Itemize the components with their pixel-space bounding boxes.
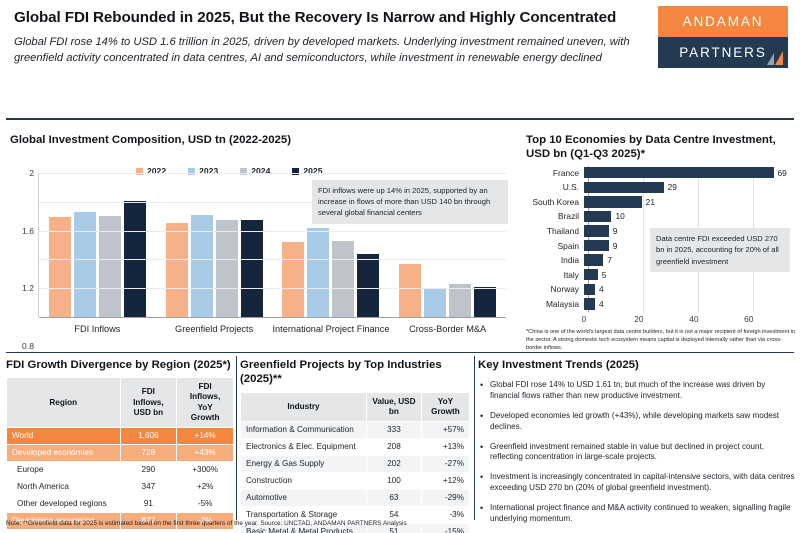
chart2-value-label: 9 — [613, 226, 618, 236]
industries-cell: Automotive — [241, 489, 367, 506]
regions-cell: 290 — [120, 462, 177, 479]
industries-header-col-1: Value, USD bn — [366, 392, 421, 421]
table-row: Africa59-38% — [7, 530, 234, 533]
industries-cell: +57% — [421, 421, 469, 438]
chart2-value-label: 9 — [613, 241, 618, 251]
chart2-bar-row: Brazil10 — [526, 210, 794, 223]
panel-industries: Greenfield Projects by Top Industries (2… — [240, 358, 470, 533]
industries-cell: -27% — [421, 455, 469, 472]
trend-bullet: Developed economies led growth (+43%), w… — [478, 411, 796, 433]
chart2-bar — [584, 298, 595, 309]
chart2-category-label: Malaysia — [526, 299, 584, 309]
industries-cell: 333 — [366, 421, 421, 438]
table-row: Construction100+12% — [241, 472, 470, 489]
chart1-bar — [474, 287, 496, 317]
regions-table: RegionFDI Inflows, USD bnFDI Inflows, Yo… — [6, 377, 234, 533]
page-subtitle: Global FDI rose 14% to USD 1.6 trillion … — [14, 35, 634, 66]
chart1-x-label: Cross-Border M&A — [389, 324, 506, 334]
regions-cell: 1,606 — [120, 427, 177, 444]
regions-cell: Europe — [7, 462, 121, 479]
chart2-bar-row: U.S.29 — [526, 181, 794, 194]
logo-line-partners: PARTNERS — [658, 37, 788, 68]
chart2-bar-row: Norway4 — [526, 283, 794, 296]
chart2-title: Top 10 Economies by Data Centre Investme… — [526, 133, 792, 162]
regions-cell: 91 — [120, 496, 177, 513]
table-row: Developed economies728+43% — [7, 444, 234, 461]
chart2-x-tick: 40 — [689, 314, 698, 324]
chart2-value-label: 4 — [599, 299, 604, 309]
industries-cell: -29% — [421, 489, 469, 506]
chart2-bar — [584, 269, 598, 280]
chart2-value-label: 10 — [615, 211, 624, 221]
chart1-bar — [307, 228, 329, 317]
industries-cell: Electronics & Elec. Equipment — [241, 438, 367, 455]
chart2-category-label: France — [526, 168, 584, 178]
chart1-group-0: FDI Inflows — [39, 173, 156, 317]
chart2-bar-wrap: 29 — [584, 181, 794, 194]
chart2-value-label: 7 — [607, 255, 612, 265]
chart2-bar — [584, 284, 595, 295]
regions-cell: Africa — [7, 530, 121, 533]
chart2-bar — [584, 211, 611, 222]
regions-table-title: FDI Growth Divergence by Region (2025*) — [6, 358, 234, 372]
regions-header-col-1: FDI Inflows, USD bn — [120, 378, 177, 428]
chart1-bar — [166, 223, 188, 317]
regions-cell: +43% — [177, 444, 234, 461]
chart2-bar-wrap: 10 — [584, 210, 794, 223]
chart1-gridline: 0.8 — [39, 259, 506, 260]
chart2-category-label: U.S. — [526, 182, 584, 192]
table-row: Electronics & Elec. Equipment208+13% — [241, 438, 470, 455]
chart2-category-label: India — [526, 255, 584, 265]
regions-table-header-row: RegionFDI Inflows, USD bnFDI Inflows, Yo… — [7, 378, 234, 428]
logo-line-andaman: ANDAMAN — [658, 6, 788, 37]
table-row: World1,606+14% — [7, 427, 234, 444]
chart2-bar-row: South Korea21 — [526, 195, 794, 208]
infographic-page: Global FDI Rebounded in 2025, But the Re… — [0, 0, 800, 533]
vertical-divider-2 — [474, 356, 475, 520]
mid-divider — [6, 352, 794, 353]
chart1-bar — [74, 212, 96, 317]
chart1-x-label: FDI Inflows — [39, 324, 156, 334]
regions-cell: 347 — [120, 479, 177, 496]
vertical-divider-1 — [236, 356, 237, 520]
chart2-value-label: 5 — [602, 270, 607, 280]
chart2-bar-wrap: 21 — [584, 195, 794, 208]
chart2-bar — [584, 182, 664, 193]
table-row: Information & Communication333+57% — [241, 421, 470, 438]
chart1-bar — [216, 220, 238, 317]
logo-partners-text: PARTNERS — [679, 45, 766, 60]
chart2-value-label: 4 — [599, 284, 604, 294]
regions-cell: Other developed regions — [7, 496, 121, 513]
chart1-gridline: 2 — [39, 173, 506, 174]
table-row: Energy & Gas Supply202-27% — [241, 455, 470, 472]
chart-investment-composition: Global Investment Composition, USD tn (2… — [6, 133, 514, 348]
chart2-category-label: Norway — [526, 284, 584, 294]
chart1-bar — [357, 254, 379, 317]
industries-cell: Construction — [241, 472, 367, 489]
industries-cell: Energy & Gas Supply — [241, 455, 367, 472]
chart2-x-tick: 0 — [582, 314, 587, 324]
chart1-title: Global Investment Composition, USD tn (2… — [10, 133, 291, 147]
chart-data-centre-investment: Top 10 Economies by Data Centre Investme… — [522, 133, 798, 348]
industries-cell: Information & Communication — [241, 421, 367, 438]
chart2-value-label: 69 — [778, 168, 787, 178]
chart2-bar-wrap: 69 — [584, 166, 794, 179]
chart2-bar — [584, 167, 774, 178]
trend-bullet: Greenfield investment remained stable in… — [478, 442, 796, 464]
regions-cell: +300% — [177, 462, 234, 479]
header-text-block: Global FDI Rebounded in 2025, But the Re… — [14, 8, 634, 66]
chart2-x-tick: 60 — [744, 314, 753, 324]
header: Global FDI Rebounded in 2025, But the Re… — [0, 0, 800, 118]
chart2-bar — [584, 225, 609, 236]
chart2-x-tick: 20 — [634, 314, 643, 324]
regions-cell: +14% — [177, 427, 234, 444]
chart1-bar — [399, 264, 421, 317]
chart1-bar — [282, 242, 304, 317]
chart1-y-tick: 0.8 — [22, 341, 34, 351]
logo-triangle-mark — [767, 49, 783, 65]
chart2-category-label: Brazil — [526, 211, 584, 221]
andaman-partners-logo: ANDAMAN PARTNERS — [658, 6, 788, 68]
chart1-bar — [241, 220, 263, 317]
chart2-bar — [584, 254, 603, 265]
chart1-gridline: 0 — [39, 317, 506, 318]
regions-cell: +2% — [177, 479, 234, 496]
regions-header-col-0: Region — [7, 378, 121, 428]
header-divider — [6, 118, 794, 120]
industries-cell: 63 — [366, 489, 421, 506]
industries-table-title: Greenfield Projects by Top Industries (2… — [240, 358, 470, 387]
chart2-bar-wrap: 4 — [584, 283, 794, 296]
chart1-gridline: 1.2 — [39, 231, 506, 232]
chart2-category-label: South Korea — [526, 197, 584, 207]
table-row: Europe290+300% — [7, 462, 234, 479]
chart2-category-label: Italy — [526, 270, 584, 280]
regions-cell: -5% — [177, 496, 234, 513]
chart1-x-label: Greenfield Projects — [156, 324, 273, 334]
regions-table-body: World1,606+14%Developed economies728+43%… — [7, 427, 234, 533]
chart1-bar — [332, 241, 354, 317]
chart2-value-label: 21 — [646, 197, 655, 207]
industries-table-header-row: IndustryValue, USD bnYoY Growth — [241, 392, 470, 421]
regions-header-col-2: FDI Inflows, YoY Growth — [177, 378, 234, 428]
regions-cell: -38% — [177, 530, 234, 533]
industries-table: IndustryValue, USD bnYoY Growth Informat… — [240, 392, 470, 533]
industries-cell: 100 — [366, 472, 421, 489]
industries-table-body: Information & Communication333+57%Electr… — [241, 421, 470, 533]
chart1-bar — [424, 288, 446, 317]
chart1-gridline: 0.4 — [39, 288, 506, 289]
trends-bullet-list: Global FDI rose 14% to USD 1.61 tn, but … — [478, 380, 796, 524]
chart2-x-axis: 0204060 — [584, 312, 790, 328]
chart2-bar — [584, 240, 609, 251]
chart1-group-1: Greenfield Projects — [156, 173, 273, 317]
chart2-bar — [584, 196, 642, 207]
panel-key-trends: Key Investment Trends (2025) Global FDI … — [478, 358, 796, 533]
chart2-category-label: Spain — [526, 241, 584, 251]
chart2-bar-row: Malaysia4 — [526, 297, 794, 310]
chart2-callout: Data centre FDI exceeded USD 270 bn in 2… — [650, 228, 790, 272]
page-title: Global FDI Rebounded in 2025, But the Re… — [14, 8, 634, 27]
chart2-bar-row: France69 — [526, 166, 794, 179]
trend-bullet: Global FDI rose 14% to USD 1.61 tn, but … — [478, 380, 796, 402]
industries-header-col-0: Industry — [241, 392, 367, 421]
table-row: Automotive63-29% — [241, 489, 470, 506]
industries-cell: +13% — [421, 438, 469, 455]
table-row: North America347+2% — [7, 479, 234, 496]
chart1-y-tick: 1.2 — [22, 283, 34, 293]
chart2-bar-wrap: 4 — [584, 297, 794, 310]
industries-cell: 202 — [366, 455, 421, 472]
regions-cell: Developed economies — [7, 444, 121, 461]
chart1-y-tick: 1.6 — [22, 226, 34, 236]
industries-cell: 208 — [366, 438, 421, 455]
chart1-callout: FDI inflows were up 14% in 2025, support… — [312, 180, 508, 224]
chart2-value-label: 29 — [668, 182, 677, 192]
source-footnote: Note: **Greenfield data for 2025 is esti… — [6, 520, 706, 527]
chart1-bar — [49, 217, 71, 317]
regions-cell: World — [7, 427, 121, 444]
chart2-category-label: Thailand — [526, 226, 584, 236]
trends-title: Key Investment Trends (2025) — [478, 358, 796, 372]
panel-regions: FDI Growth Divergence by Region (2025*) … — [6, 358, 234, 533]
regions-cell: 59 — [120, 530, 177, 533]
chart2-footnote: *China is one of the world's largest dat… — [526, 329, 798, 353]
trend-bullet: Investment is increasingly concentrated … — [478, 472, 796, 494]
chart1-y-tick: 2 — [29, 168, 34, 178]
table-row: Other developed regions91-5% — [7, 496, 234, 513]
industries-header-col-2: YoY Growth — [421, 392, 469, 421]
regions-cell: 728 — [120, 444, 177, 461]
industries-cell: +12% — [421, 472, 469, 489]
regions-cell: North America — [7, 479, 121, 496]
chart1-x-label: International Project Finance — [273, 324, 390, 334]
